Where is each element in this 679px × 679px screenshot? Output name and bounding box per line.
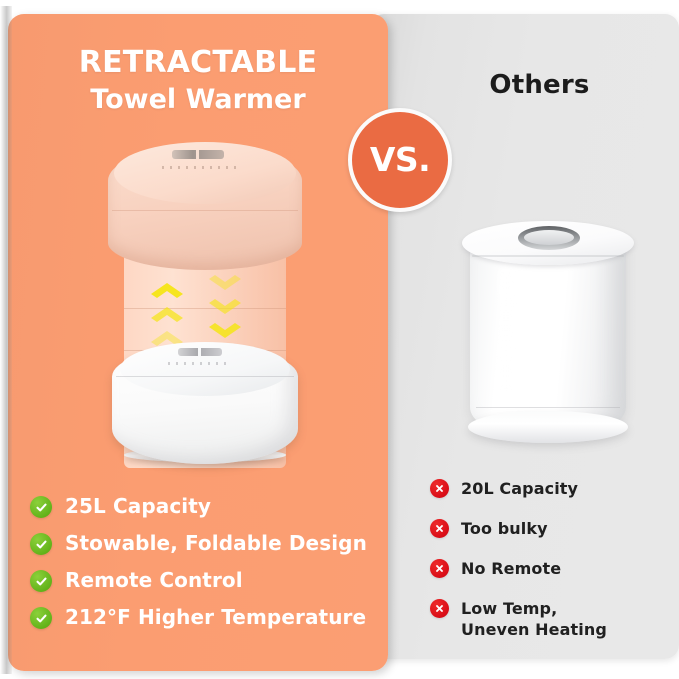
feature-label: 212°F Higher Temperature xyxy=(65,605,366,630)
warmer-base-vent-gap xyxy=(198,348,201,356)
others-body-highlight xyxy=(498,267,514,395)
check-icon xyxy=(30,570,52,592)
warmer-base-seam xyxy=(116,376,294,377)
warmer-base-perforation xyxy=(168,362,232,365)
product-title-line1: RETRACTABLE xyxy=(8,44,388,82)
product-feature-list: 25L Capacity Stowable, Foldable Design R… xyxy=(30,494,385,642)
warmer-lid-vent-gap xyxy=(196,150,199,159)
warmer-lid-perforation xyxy=(162,166,236,169)
chevron-up-icon xyxy=(150,282,184,299)
list-item: Too bulky xyxy=(430,518,670,539)
check-icon xyxy=(30,533,52,555)
feature-label: Remote Control xyxy=(65,568,243,593)
retractable-towel-warmer-image xyxy=(100,136,310,471)
chevron-up-icon xyxy=(150,306,184,323)
versus-badge: VS. xyxy=(348,108,452,212)
product-panel: RETRACTABLE Towel Warmer xyxy=(8,14,388,671)
feature-label: No Remote xyxy=(461,558,561,579)
list-item: 20L Capacity xyxy=(430,478,670,499)
list-item: 212°F Higher Temperature xyxy=(30,605,385,630)
others-body xyxy=(470,237,626,433)
comparison-infographic: RETRACTABLE Towel Warmer xyxy=(0,0,679,679)
standard-towel-warmer-image xyxy=(462,215,634,450)
chevron-down-icon xyxy=(208,322,242,339)
check-icon xyxy=(30,607,52,629)
warmer-lid-seam xyxy=(112,210,298,211)
product-title-block: RETRACTABLE Towel Warmer xyxy=(8,44,388,118)
feature-label: Stowable, Foldable Design xyxy=(65,531,367,556)
feature-label: Low Temp, Uneven Heating xyxy=(461,598,631,640)
others-title: Others xyxy=(400,70,679,100)
feature-label: Too bulky xyxy=(461,518,548,539)
chevron-down-icon xyxy=(208,274,242,291)
body-fold-line-1 xyxy=(124,308,286,309)
list-item: Low Temp, Uneven Heating xyxy=(430,598,670,640)
chevron-down-icon xyxy=(208,298,242,315)
list-item: 25L Capacity xyxy=(30,494,385,519)
others-base-seam xyxy=(476,407,620,408)
cross-icon xyxy=(430,599,449,618)
list-item: Remote Control xyxy=(30,568,385,593)
versus-label: VS. xyxy=(370,143,430,176)
cross-icon xyxy=(430,479,449,498)
others-feature-list: 20L Capacity Too bulky No Remote Low Tem… xyxy=(430,478,670,659)
product-title-line2: Towel Warmer xyxy=(8,82,388,118)
feature-label: 25L Capacity xyxy=(65,494,211,519)
list-item: No Remote xyxy=(430,558,670,579)
others-opening-inner xyxy=(524,230,574,245)
feature-label: 20L Capacity xyxy=(461,478,578,499)
others-neck-seam xyxy=(472,255,624,257)
cross-icon xyxy=(430,519,449,538)
list-item: Stowable, Foldable Design xyxy=(30,531,385,556)
others-base-rim xyxy=(468,411,628,443)
cross-icon xyxy=(430,559,449,578)
check-icon xyxy=(30,496,52,518)
